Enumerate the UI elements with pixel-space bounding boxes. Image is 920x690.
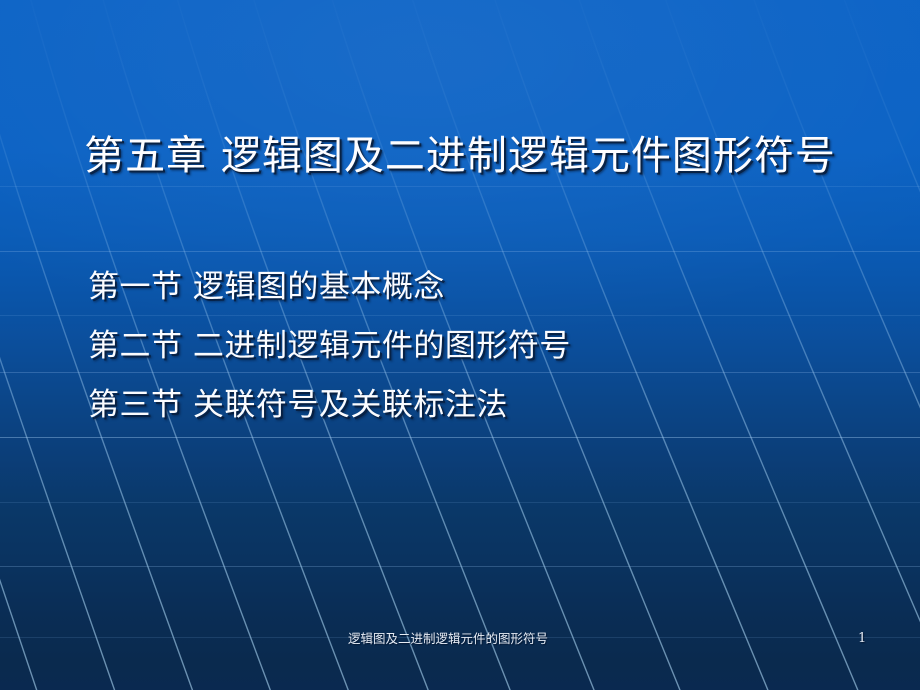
- slide-canvas: 第五章 逻辑图及二进制逻辑元件图形符号 第一节 逻辑图的基本概念 第二节 二进制…: [0, 0, 920, 690]
- section-item-3: 第三节 关联符号及关联标注法: [88, 376, 848, 435]
- slide-content: 第五章 逻辑图及二进制逻辑元件图形符号 第一节 逻辑图的基本概念 第二节 二进制…: [0, 0, 920, 690]
- slide-footer: 逻辑图及二进制逻辑元件的图形符号 1: [0, 630, 920, 652]
- section-list: 第一节 逻辑图的基本概念 第二节 二进制逻辑元件的图形符号 第三节 关联符号及关…: [88, 258, 848, 435]
- slide-page-number: 1: [858, 630, 866, 648]
- section-item-1: 第一节 逻辑图的基本概念: [88, 258, 848, 317]
- slide-title: 第五章 逻辑图及二进制逻辑元件图形符号: [0, 131, 920, 181]
- footer-title-text: 逻辑图及二进制逻辑元件的图形符号: [348, 630, 548, 648]
- section-item-2: 第二节 二进制逻辑元件的图形符号: [88, 317, 848, 376]
